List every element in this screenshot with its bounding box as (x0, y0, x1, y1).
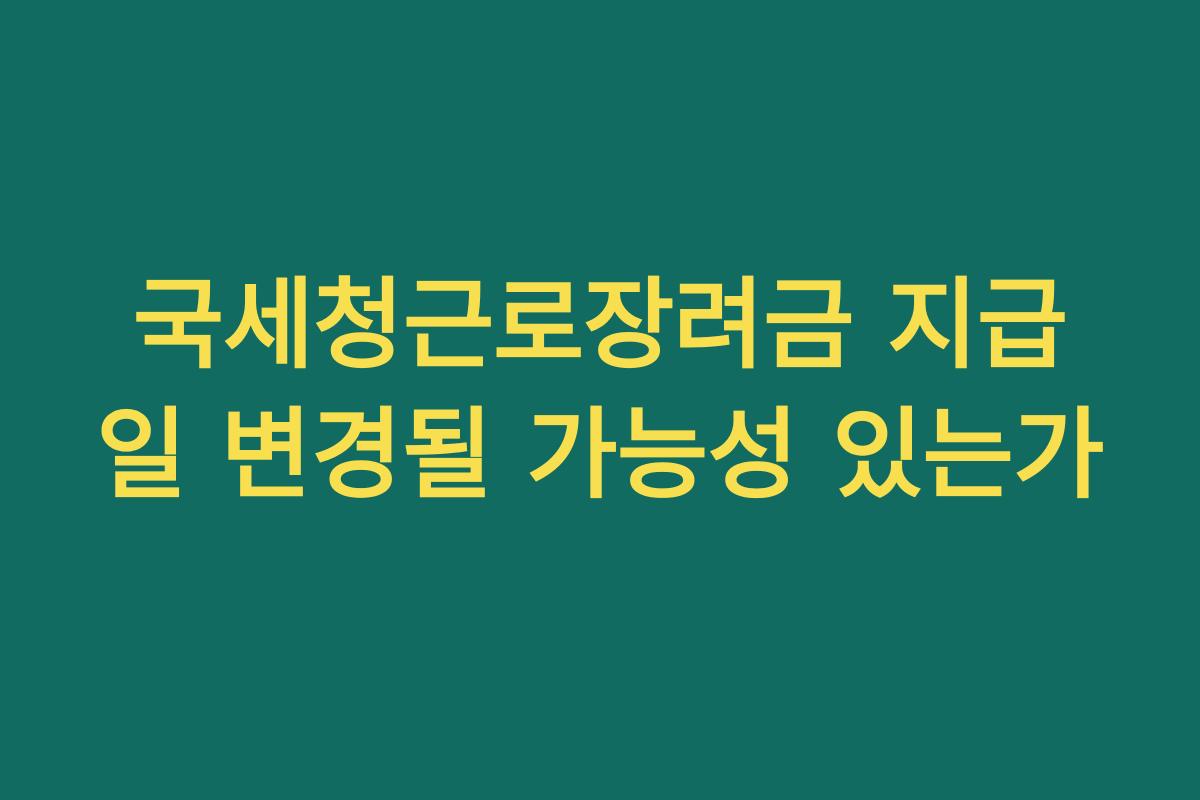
headline-block: 국세청근로장려금 지급 일 변경될 가능성 있는가 (50, 261, 1150, 521)
thumbnail-card: 국세청근로장려금 지급 일 변경될 가능성 있는가 (0, 0, 1200, 800)
headline-line-2: 일 변경될 가능성 있는가 (96, 391, 1104, 521)
headline-line-1: 국세청근로장려금 지급 (133, 261, 1067, 391)
